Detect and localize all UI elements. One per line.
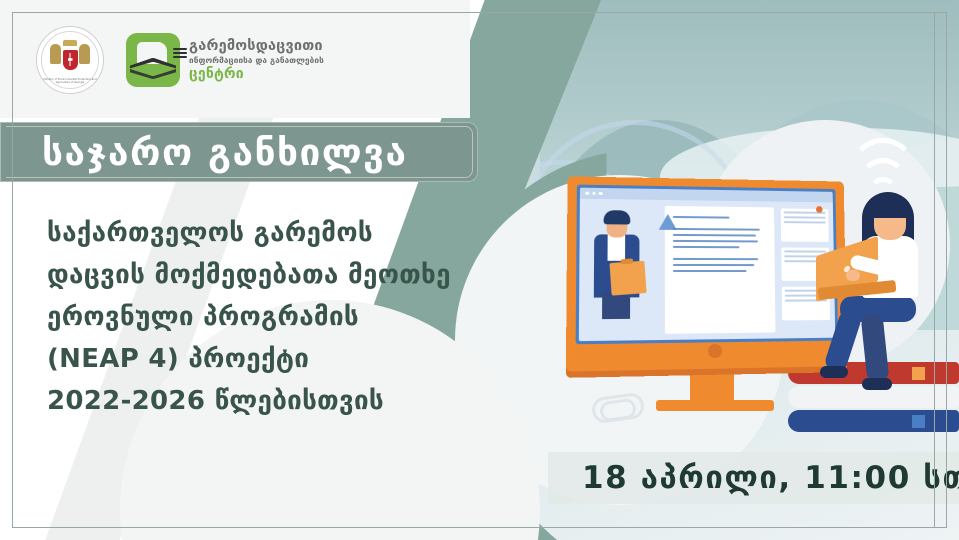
eiec-title-line1: გარემოსდაცვითი (189, 38, 324, 55)
presenter-legs (602, 292, 630, 319)
crown-icon (63, 40, 77, 46)
logo-lines (173, 48, 187, 60)
monitor-chin (575, 339, 838, 366)
announcement-line-3: ეროვნული პროგრამის (47, 296, 467, 338)
announcement-line-5: 2022-2026 წლებისთვის (47, 380, 467, 422)
presenter-shirt (608, 234, 626, 260)
sidebar-card (781, 208, 829, 241)
logo-row: Ministry of Environmental Protection and… (36, 26, 324, 94)
book-tag (912, 415, 925, 428)
browser-content (579, 199, 835, 341)
announcement-line-4: (NEAP 4) პროექტი (47, 338, 467, 380)
monitor-knob (708, 344, 722, 358)
doc-line (673, 258, 758, 260)
monitor-neck (690, 368, 734, 402)
georgia-shield-icon (63, 50, 78, 70)
window-dot (592, 192, 596, 196)
presenter-figure (579, 199, 663, 341)
doc-line (673, 270, 747, 272)
eiec-logo: გარემოსდაცვითი ინფორმაციისა და განათლები… (126, 33, 324, 87)
eiec-logo-text: გარემოსდაცვითი ინფორმაციისა და განათლები… (189, 38, 324, 82)
presenter-clipboard (610, 261, 647, 296)
desktop-monitor (570, 178, 860, 428)
header-bar: Ministry of Environmental Protection and… (0, 0, 470, 118)
doc-line (673, 216, 730, 219)
date-time-band: 18 აპრილი, 11:00 სთ (548, 452, 959, 504)
doc-line (673, 264, 754, 266)
eiec-title-line2: ინფორმაციისა და განათლების (189, 56, 324, 65)
woman-shin-left (823, 308, 863, 374)
monitor-screen (576, 185, 839, 345)
woman-shoe-left (820, 366, 848, 378)
ministry-of-environment-seal: Ministry of Environmental Protection and… (36, 26, 104, 94)
window-dot (599, 192, 603, 196)
illustration-group (560, 150, 959, 450)
woman-with-laptop (828, 188, 948, 403)
title-banner: საჯარო განხილვა (0, 122, 478, 182)
presenter-hair (604, 210, 631, 224)
page-title: საჯარო განხილვა (42, 131, 407, 174)
woman-hair-top (866, 194, 912, 218)
doc-line (673, 246, 739, 248)
woman-hand (846, 270, 860, 281)
window-dot (585, 191, 589, 195)
frame-right-accent-line (934, 12, 935, 528)
doc-line (673, 228, 759, 231)
poster-canvas: Ministry of Environmental Protection and… (0, 0, 959, 540)
woman-shoe-right (862, 378, 892, 390)
woman-shin-right (861, 313, 890, 383)
announcement-line-2: დაცვის მოქმედებათა მეოთხე (47, 254, 467, 296)
doc-line (673, 240, 757, 243)
heraldic-lion-icon (79, 44, 90, 64)
event-date-time: 18 აპრილი, 11:00 სთ (582, 460, 959, 496)
seal-caption: Ministry of Environmental Protection and… (37, 78, 103, 84)
heraldic-lion-icon (50, 44, 61, 64)
document-panel (665, 206, 776, 334)
monitor-body (566, 176, 847, 371)
announcement-text: საქართველოს გარემოს დაცვის მოქმედებათა მ… (47, 212, 467, 423)
announcement-line-1: საქართველოს გარემოს (47, 212, 467, 254)
doc-line (673, 234, 756, 237)
eiec-title-line3: ცენტრი (189, 66, 324, 82)
record-indicator-icon (816, 206, 823, 213)
eiec-logo-mark (126, 33, 180, 87)
